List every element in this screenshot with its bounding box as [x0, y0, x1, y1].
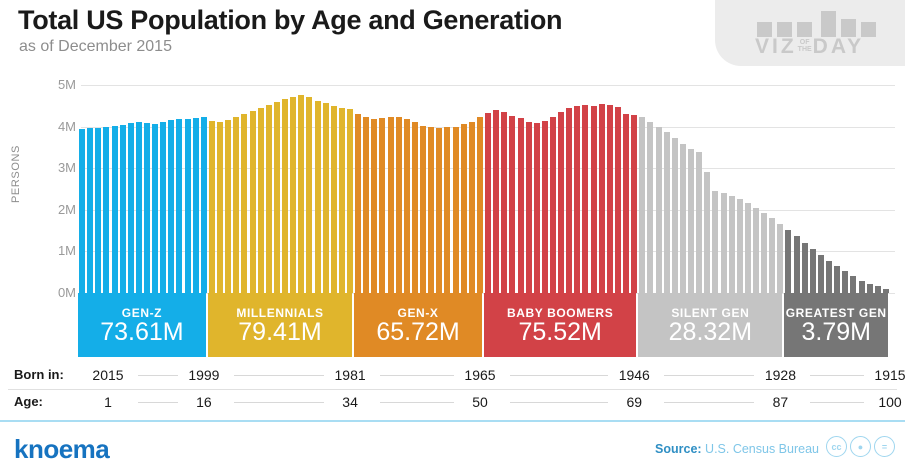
bar-age-96[interactable]: [850, 276, 856, 293]
age-label: Age:: [14, 394, 43, 409]
bar-age-24[interactable]: [266, 105, 272, 293]
age-value: 16: [176, 394, 232, 410]
bar-age-70[interactable]: [639, 117, 645, 293]
bar-age-47[interactable]: [453, 127, 459, 293]
viz-of-the-day-badge: VIZ OF THE DAY: [715, 0, 905, 66]
bar-age-91[interactable]: [810, 249, 816, 293]
bar-age-93[interactable]: [826, 261, 832, 293]
bar-age-89[interactable]: [794, 236, 800, 293]
bar-age-10[interactable]: [152, 124, 158, 293]
bar-age-53[interactable]: [501, 112, 507, 293]
born-in-value: 1999: [176, 367, 232, 383]
generation-band-baby-boomers[interactable]: BABY BOOMERS75.52M: [484, 293, 636, 357]
cc-by-person-icon[interactable]: ●: [850, 436, 871, 457]
born-age-table: Born in: 2015199919811965194619281915 Ag…: [0, 362, 905, 420]
cc-icon[interactable]: cc: [826, 436, 847, 457]
page-title: Total US Population by Age and Generatio…: [18, 5, 562, 36]
bar-age-34[interactable]: [347, 109, 353, 293]
age-dash: [234, 402, 324, 403]
bar-age-2[interactable]: [87, 128, 93, 293]
bar-age-43[interactable]: [420, 126, 426, 293]
bar-age-94[interactable]: [834, 266, 840, 293]
bar-age-86[interactable]: [769, 218, 775, 293]
cc-nd-equals-icon[interactable]: =: [874, 436, 895, 457]
page-subtitle: as of December 2015: [19, 38, 172, 56]
bar-age-22[interactable]: [250, 111, 256, 293]
bar-age-52[interactable]: [493, 110, 499, 293]
bar-age-33[interactable]: [339, 108, 345, 293]
bar-age-59[interactable]: [550, 117, 556, 293]
age-dash: [380, 402, 454, 403]
source-label: Source:: [655, 442, 702, 456]
born-in-value: 1928: [752, 367, 808, 383]
badge-text: VIZ OF THE DAY: [755, 36, 864, 57]
bar-age-5[interactable]: [112, 126, 118, 293]
bar-age-14[interactable]: [185, 119, 191, 293]
born-in-dash: [138, 375, 178, 376]
bar-age-57[interactable]: [534, 123, 540, 293]
bar-age-39[interactable]: [388, 117, 394, 293]
bar-age-90[interactable]: [802, 243, 808, 293]
bar-age-81[interactable]: [729, 196, 735, 293]
age-dash: [664, 402, 754, 403]
bar-age-38[interactable]: [379, 118, 385, 293]
bar-age-50[interactable]: [477, 117, 483, 293]
bar-age-42[interactable]: [412, 122, 418, 293]
bar-age-19[interactable]: [225, 120, 231, 293]
bar-age-77[interactable]: [696, 152, 702, 293]
bar-age-40[interactable]: [396, 117, 402, 293]
bar-age-66[interactable]: [607, 105, 613, 293]
age-value: 69: [606, 394, 662, 410]
bar-age-27[interactable]: [290, 97, 296, 293]
bar-age-87[interactable]: [777, 224, 783, 293]
age-value: 87: [752, 394, 808, 410]
born-in-value: 1965: [452, 367, 508, 383]
y-axis-label: PERSONS: [10, 145, 22, 203]
bar-age-83[interactable]: [745, 203, 751, 293]
born-in-row: Born in: 2015199919811965194619281915: [0, 362, 905, 389]
age-dash: [510, 402, 608, 403]
bar-age-54[interactable]: [509, 116, 515, 293]
population-bar-chart: PERSONS 5M4M3M2M1M0M: [0, 78, 905, 293]
bar-age-37[interactable]: [371, 119, 377, 293]
bar-age-12[interactable]: [168, 120, 174, 293]
bar-age-61[interactable]: [566, 108, 572, 293]
badge-viz: VIZ: [755, 36, 797, 57]
bar-age-88[interactable]: [785, 230, 791, 293]
bar-age-99[interactable]: [875, 286, 881, 293]
badge-the: THE: [798, 46, 812, 53]
born-in-dash: [510, 375, 608, 376]
bar-age-1[interactable]: [79, 129, 85, 293]
bar-age-79[interactable]: [712, 191, 718, 293]
bar-age-65[interactable]: [599, 104, 605, 293]
bar-age-75[interactable]: [680, 144, 686, 293]
y-tick-label: 0M: [46, 285, 76, 300]
bar-age-44[interactable]: [428, 127, 434, 293]
born-in-dash: [380, 375, 454, 376]
born-in-value: 1915: [862, 367, 905, 383]
bar-age-17[interactable]: [209, 121, 215, 293]
y-tick-label: 1M: [46, 243, 76, 258]
bar-age-23[interactable]: [258, 108, 264, 293]
bar-age-56[interactable]: [526, 122, 532, 293]
bar-age-21[interactable]: [241, 114, 247, 293]
bar-age-80[interactable]: [721, 193, 727, 293]
bar-age-67[interactable]: [615, 107, 621, 293]
bar-age-64[interactable]: [591, 106, 597, 293]
bar-age-8[interactable]: [136, 122, 142, 293]
generation-band-gen-z[interactable]: GEN-Z73.61M: [78, 293, 206, 357]
bar-age-9[interactable]: [144, 123, 150, 293]
bar-age-51[interactable]: [485, 113, 491, 293]
age-value: 100: [862, 394, 905, 410]
bar-age-58[interactable]: [542, 121, 548, 293]
generation-total: 73.61M: [100, 319, 183, 346]
badge-of-the: OF THE: [798, 39, 812, 53]
born-in-label: Born in:: [14, 367, 64, 382]
bar-age-85[interactable]: [761, 213, 767, 293]
bar-age-41[interactable]: [404, 119, 410, 293]
bar-age-11[interactable]: [160, 122, 166, 293]
age-dash: [138, 402, 178, 403]
y-tick-label: 4M: [46, 119, 76, 134]
bar-age-78[interactable]: [704, 172, 710, 293]
source-value: U.S. Census Bureau: [705, 442, 819, 456]
bar-age-3[interactable]: [95, 128, 101, 293]
generation-band-silent-gen[interactable]: SILENT GEN28.32M: [638, 293, 782, 357]
source-credit: Source: U.S. Census Bureau: [655, 442, 819, 456]
generation-total: 79.41M: [238, 319, 321, 346]
knoema-logo[interactable]: knoema: [14, 434, 109, 465]
bar-age-72[interactable]: [656, 127, 662, 293]
bar-age-76[interactable]: [688, 149, 694, 293]
bar-age-4[interactable]: [103, 127, 109, 293]
bar-age-82[interactable]: [737, 199, 743, 293]
bar-age-7[interactable]: [128, 123, 134, 293]
badge-bars-icon: [757, 11, 876, 37]
bar-age-28[interactable]: [298, 95, 304, 293]
bar-age-55[interactable]: [518, 118, 524, 293]
badge-of: OF: [800, 39, 810, 46]
age-value: 1: [80, 394, 136, 410]
bar-age-98[interactable]: [867, 284, 873, 293]
bar-age-97[interactable]: [859, 281, 865, 293]
generation-band-gen-x[interactable]: GEN-X65.72M: [354, 293, 482, 357]
bar-age-74[interactable]: [672, 138, 678, 293]
bar-age-6[interactable]: [120, 125, 126, 293]
bar-age-20[interactable]: [233, 117, 239, 293]
born-in-value: 2015: [80, 367, 136, 383]
generation-total: 65.72M: [376, 319, 459, 346]
bar-age-92[interactable]: [818, 255, 824, 293]
generation-band-millennials[interactable]: MILLENNIALS79.41M: [208, 293, 352, 357]
bar-age-62[interactable]: [574, 106, 580, 293]
bar-age-29[interactable]: [306, 97, 312, 293]
generation-total: 75.52M: [518, 319, 601, 346]
bar-age-71[interactable]: [647, 122, 653, 293]
bar-age-31[interactable]: [323, 103, 329, 293]
page-footer: knoema Source: U.S. Census Bureau cc ● =: [0, 422, 905, 474]
generation-total: 3.79M: [801, 319, 870, 346]
badge-day: DAY: [813, 36, 864, 57]
age-dash: [810, 402, 864, 403]
born-in-dash: [664, 375, 754, 376]
bar-age-46[interactable]: [444, 127, 450, 293]
bar-age-84[interactable]: [753, 208, 759, 293]
bar-age-48[interactable]: [461, 124, 467, 293]
bar-age-36[interactable]: [363, 117, 369, 293]
bar-age-16[interactable]: [201, 117, 207, 293]
bar-age-26[interactable]: [282, 99, 288, 293]
born-in-dash: [810, 375, 864, 376]
born-in-value: 1946: [606, 367, 662, 383]
bar-age-63[interactable]: [582, 105, 588, 293]
bar-age-15[interactable]: [193, 118, 199, 293]
born-in-dash: [234, 375, 324, 376]
creative-commons-icons: cc ● =: [826, 436, 895, 457]
chart-plot-area: [78, 85, 890, 293]
bar-age-69[interactable]: [631, 115, 637, 293]
generation-total: 28.32M: [669, 319, 752, 346]
page-header: Total US Population by Age and Generatio…: [0, 0, 905, 78]
bar-age-68[interactable]: [623, 114, 629, 293]
y-tick-label: 2M: [46, 202, 76, 217]
born-in-value: 1981: [322, 367, 378, 383]
bar-age-60[interactable]: [558, 112, 564, 293]
bar-age-49[interactable]: [469, 122, 475, 293]
bar-age-13[interactable]: [176, 119, 182, 293]
bar-age-45[interactable]: [436, 128, 442, 293]
bar-age-73[interactable]: [664, 132, 670, 293]
bar-age-35[interactable]: [355, 114, 361, 293]
generation-band-greatest-gen[interactable]: GREATEST GEN3.79M: [784, 293, 888, 357]
bar-age-18[interactable]: [217, 122, 223, 293]
age-value: 34: [322, 394, 378, 410]
y-tick-label: 3M: [46, 160, 76, 175]
bar-age-32[interactable]: [331, 106, 337, 293]
generation-bands: GEN-Z73.61MMILLENNIALS79.41MGEN-X65.72MB…: [78, 293, 890, 357]
bar-age-95[interactable]: [842, 271, 848, 293]
age-value: 50: [452, 394, 508, 410]
y-tick-label: 5M: [46, 77, 76, 92]
bar-age-25[interactable]: [274, 102, 280, 293]
age-row: Age: 11634506987100: [0, 389, 905, 416]
bar-age-30[interactable]: [315, 101, 321, 293]
